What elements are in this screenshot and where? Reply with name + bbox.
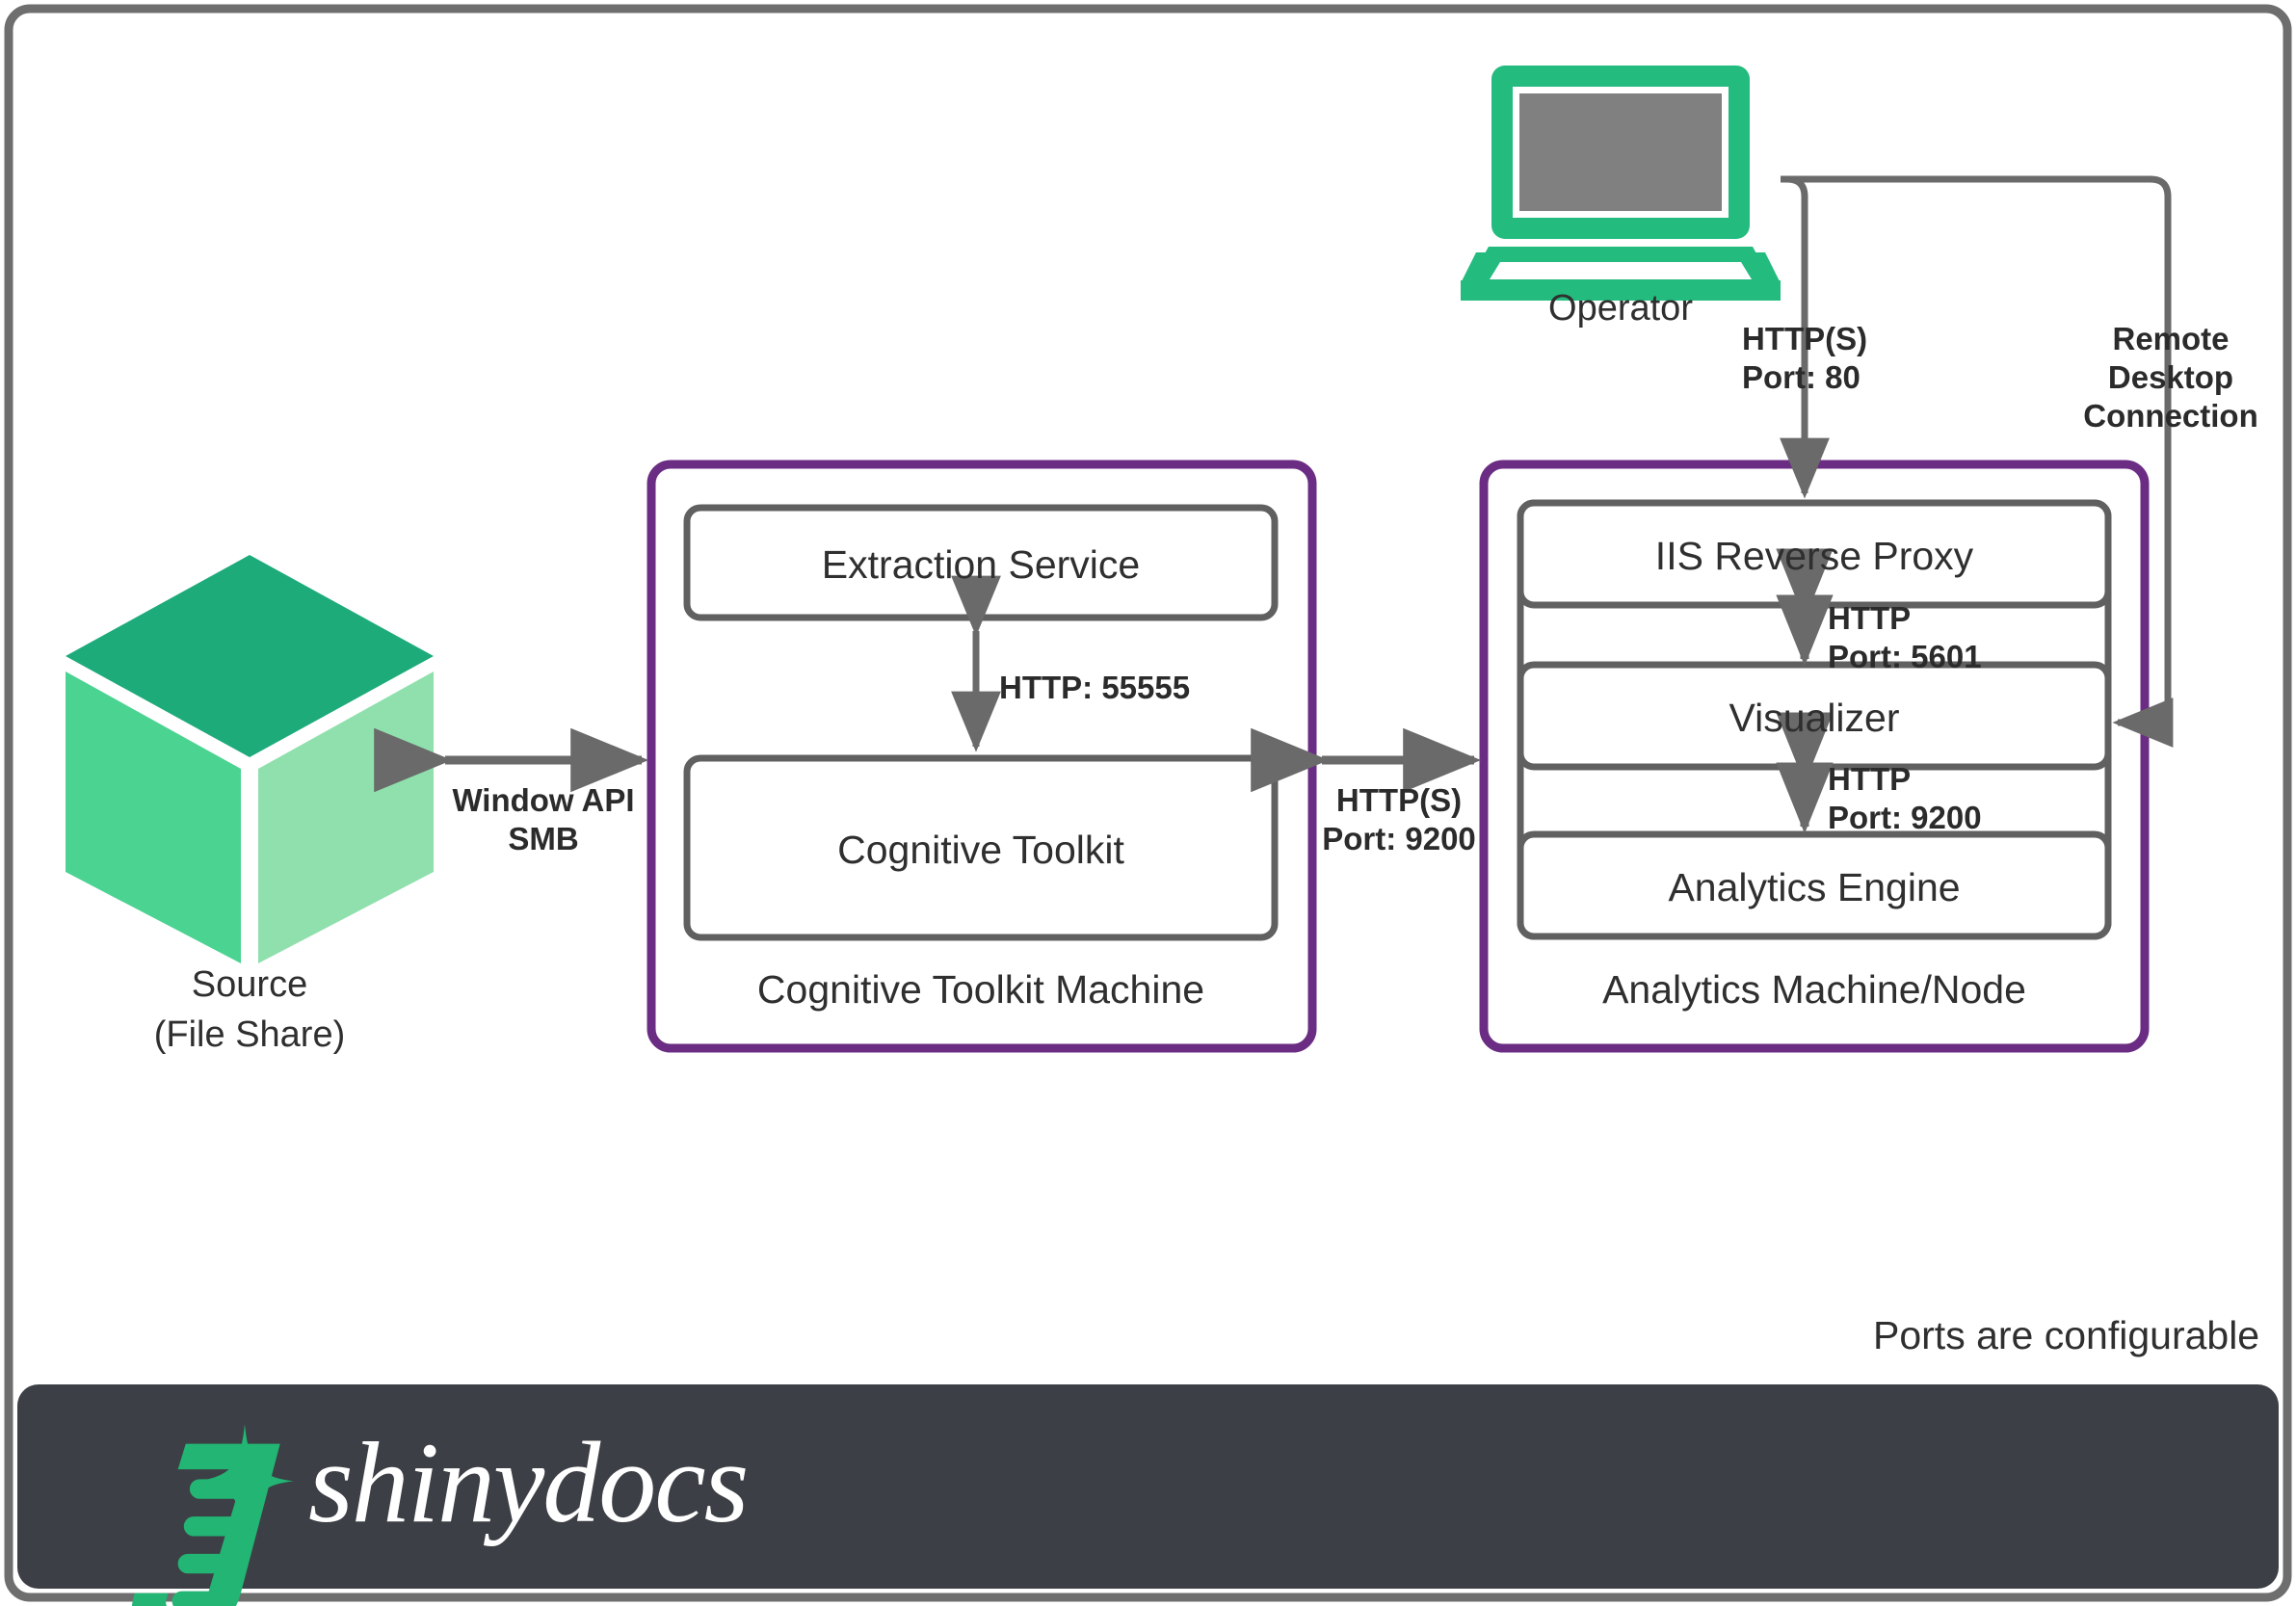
laptop-icon [1461,66,1781,301]
source-to-cognitive-label-line2: SMB [508,821,578,858]
analytics-engine-label: Analytics Engine [1668,864,1960,910]
visualizer-label: Visualizer [1729,695,1900,741]
cognitive-internal-link-label: HTTP: 55555 [999,670,1190,707]
visualizer-engine-link-label-line2: Port: 9200 [1828,800,1982,837]
remote-desktop-label-line3: Connection [2083,398,2257,435]
remote-desktop-label-line2: Desktop [2108,359,2233,397]
cognitive-to-analytics-label-line1: HTTP(S) [1336,782,1462,820]
source-to-cognitive-label-line1: Window API [452,782,634,820]
remote-desktop-label-line1: Remote [2112,321,2229,358]
operator-to-proxy-label-line1: HTTP(S) [1742,321,1867,358]
operator-label: Operator [1548,287,1693,330]
architecture-diagram-canvas: Source (File Share) Operator Window API … [0,0,2296,1606]
iis-reverse-proxy-label: IIS Reverse Proxy [1655,533,1973,579]
ports-configurable-note: Ports are configurable [1873,1312,2259,1358]
cognitive-toolkit-machine-title: Cognitive Toolkit Machine [757,966,1204,1013]
proxy-visualizer-link-label-line1: HTTP [1828,600,1911,638]
cognitive-to-analytics-label-line2: Port: 9200 [1322,821,1476,858]
source-label-line1: Source [192,963,307,1007]
extraction-service-label: Extraction Service [822,541,1140,588]
operator-to-proxy-label-line2: Port: 80 [1742,359,1861,397]
shinydocs-wordmark: shinydocs [308,1416,747,1549]
visualizer-engine-link-label-line1: HTTP [1828,761,1911,799]
analytics-machine-title: Analytics Machine/Node [1602,966,2026,1013]
cognitive-toolkit-label: Cognitive Toolkit [837,827,1124,873]
source-label-line2: (File Share) [154,1014,346,1057]
proxy-visualizer-link-label-line2: Port: 5601 [1828,639,1982,676]
